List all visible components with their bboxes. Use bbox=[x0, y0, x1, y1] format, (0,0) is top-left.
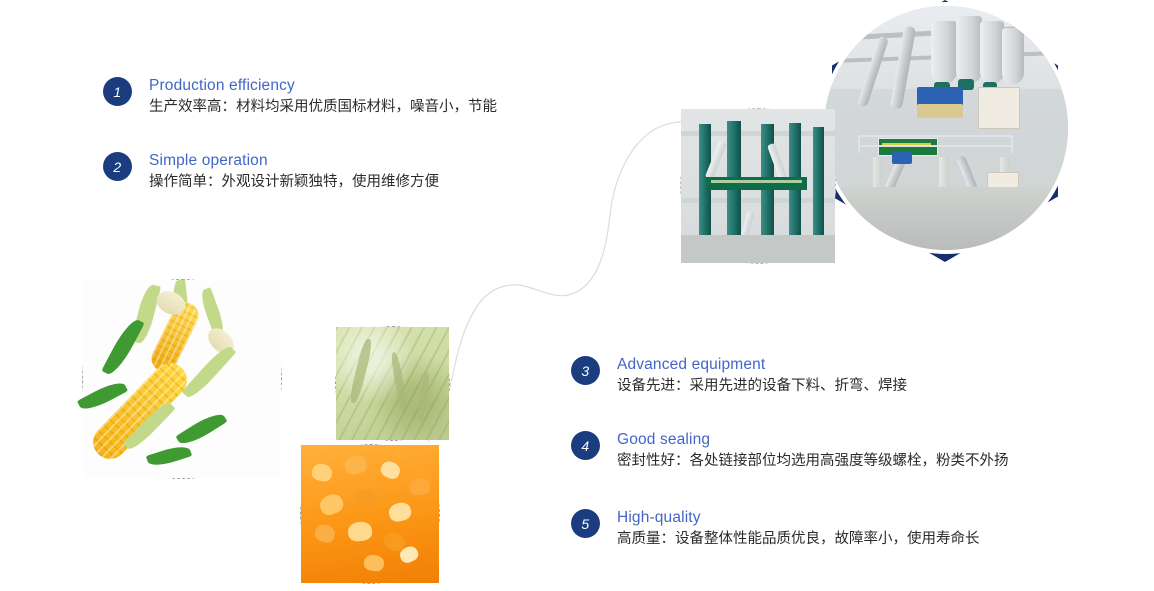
feature-badge-5: 5 bbox=[571, 509, 600, 538]
feature-highlight-banner: 1 Production efficiency 生产效率高：材料均采用优质国标材… bbox=[0, 0, 1154, 591]
factory-photo-art bbox=[824, 6, 1068, 250]
feature-description-5: 高质量：设备整体性能品质优良，故障率小，使用寿命长 bbox=[617, 529, 980, 550]
feature-description-4: 密封性好：各处链接部位均选用高强度等级螺栓，粉类不外扬 bbox=[617, 451, 1009, 472]
secondary-photo-circle bbox=[680, 108, 836, 264]
feature-text-2: Simple operation 操作简单：外观设计新颖独特，使用维修方便 bbox=[149, 151, 439, 193]
corn-kernels-art bbox=[309, 453, 431, 575]
feature-description-2: 操作简单：外观设计新颖独特，使用维修方便 bbox=[149, 172, 439, 193]
feature-text-1: Production efficiency 生产效率高：材料均采用优质国标材料，… bbox=[149, 76, 497, 118]
feature-item-3: 3 Advanced equipment 设备先进：采用先进的设备下料、折弯、焊… bbox=[571, 355, 907, 397]
feature-description-3: 设备先进：采用先进的设备下料、折弯、焊接 bbox=[617, 376, 907, 397]
feature-badge-4: 4 bbox=[571, 431, 600, 460]
green-paste-circle bbox=[335, 326, 450, 441]
secondary-photo-art bbox=[686, 114, 830, 258]
corn-kernels-circle bbox=[300, 444, 440, 584]
feature-title-2: Simple operation bbox=[149, 151, 439, 170]
feature-title-1: Production efficiency bbox=[149, 76, 497, 95]
feature-title-5: High-quality bbox=[617, 508, 980, 527]
feature-item-1: 1 Production efficiency 生产效率高：材料均采用优质国标材… bbox=[103, 76, 497, 118]
factory-photo-circle bbox=[820, 2, 1072, 254]
feature-item-4: 4 Good sealing 密封性好：各处链接部位均选用高强度等级螺栓，粉类不… bbox=[571, 430, 1009, 472]
feature-item-2: 2 Simple operation 操作简单：外观设计新颖独特，使用维修方便 bbox=[103, 151, 439, 193]
corn-cob-art bbox=[91, 288, 273, 470]
feature-description-1: 生产效率高：材料均采用优质国标材料，噪音小，节能 bbox=[149, 97, 497, 118]
feature-item-5: 5 High-quality 高质量：设备整体性能品质优良，故障率小，使用寿命长 bbox=[571, 508, 980, 550]
feature-badge-2: 2 bbox=[103, 152, 132, 181]
feature-text-5: High-quality 高质量：设备整体性能品质优良，故障率小，使用寿命长 bbox=[617, 508, 980, 550]
feature-text-4: Good sealing 密封性好：各处链接部位均选用高强度等级螺栓，粉类不外扬 bbox=[617, 430, 1009, 472]
hexagon-photo-group bbox=[660, 0, 1154, 290]
feature-text-3: Advanced equipment 设备先进：采用先进的设备下料、折弯、焊接 bbox=[617, 355, 907, 397]
feature-title-4: Good sealing bbox=[617, 430, 1009, 449]
corn-photo-group bbox=[82, 276, 502, 591]
corn-cob-circle bbox=[82, 279, 282, 479]
feature-title-3: Advanced equipment bbox=[617, 355, 907, 374]
feature-badge-1: 1 bbox=[103, 77, 132, 106]
feature-badge-3: 3 bbox=[571, 356, 600, 385]
green-paste-art bbox=[344, 335, 441, 432]
